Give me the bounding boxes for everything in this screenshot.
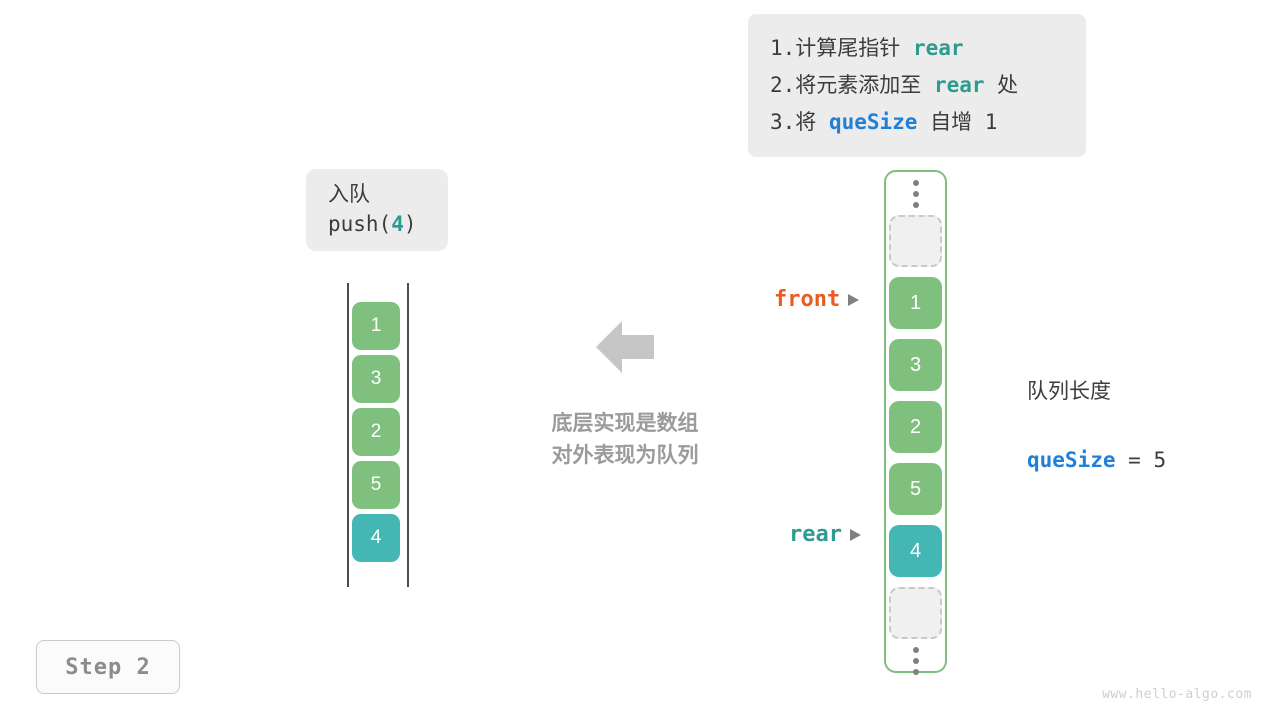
instruction-index-2: 2.	[770, 73, 795, 97]
caption-block: 底层实现是数组 对外表现为队列	[500, 408, 750, 472]
queue-cell-list: 1 3 2 5 4	[352, 302, 400, 567]
instruction-line-2: 2.将元素添加至 rear 处	[748, 67, 1086, 104]
array-cell: 2	[889, 401, 942, 453]
queue-rail-right	[407, 283, 409, 587]
arrow-right-icon	[850, 529, 861, 541]
operation-call: push(4)	[328, 209, 448, 239]
operation-call-suffix: )	[404, 212, 417, 236]
instruction-line-3: 3.将 queSize 自增 1	[748, 104, 1086, 141]
array-cell: 5	[889, 463, 942, 515]
instruction-suffix-3: 自增 1	[917, 110, 997, 134]
instruction-text-1: 计算尾指针	[795, 36, 913, 60]
array-implementation-view: 1 3 2 5 4	[884, 170, 947, 673]
watermark: www.hello-algo.com	[1102, 687, 1252, 702]
size-annotation: 队列长度 queSize = 5	[1027, 341, 1166, 495]
queue-cell: 5	[352, 461, 400, 509]
queue-cell: 3	[352, 355, 400, 403]
left-arrow-icon	[596, 320, 654, 374]
instruction-text-2: 将元素添加至	[795, 73, 934, 97]
vertical-ellipsis-icon-top	[886, 172, 945, 215]
operation-callout: 入队 push(4)	[306, 169, 448, 251]
vertical-ellipsis-icon-bottom	[886, 639, 945, 682]
arrow-right-icon	[848, 294, 859, 306]
instruction-keyword-rear-2: rear	[934, 73, 985, 97]
pointer-front-label: front	[774, 287, 840, 312]
queue-cell: 1	[352, 302, 400, 350]
pointer-rear-label: rear	[789, 522, 842, 547]
queue-abstract-view: 1 3 2 5 4	[340, 283, 416, 587]
step-badge-label: Step 2	[65, 655, 150, 680]
instruction-index-3: 3.	[770, 110, 795, 134]
operation-call-arg: 4	[391, 212, 404, 236]
array-cell-empty	[889, 587, 942, 639]
array-cell: 1	[889, 277, 942, 329]
array-cell: 4	[889, 525, 942, 577]
pointer-rear: rear	[789, 522, 861, 547]
array-cell-empty	[889, 215, 942, 267]
size-annotation-expression: queSize = 5	[1027, 443, 1166, 477]
instruction-panel: 1.计算尾指针 rear 2.将元素添加至 rear 处 3.将 queSize…	[748, 14, 1086, 157]
instruction-keyword-rear-1: rear	[913, 36, 964, 60]
instruction-keyword-quesize: queSize	[829, 110, 918, 134]
size-annotation-variable: queSize	[1027, 448, 1116, 472]
queue-cell: 4	[352, 514, 400, 562]
array-cell: 3	[889, 339, 942, 391]
instruction-index-1: 1.	[770, 36, 795, 60]
instruction-line-1: 1.计算尾指针 rear	[748, 30, 1086, 67]
operation-title: 入队	[328, 181, 448, 209]
caption-line-2: 对外表现为队列	[500, 440, 750, 472]
instruction-text-3: 将	[795, 110, 829, 134]
queue-cell: 2	[352, 408, 400, 456]
size-annotation-title: 队列长度	[1027, 377, 1166, 407]
pointer-front: front	[774, 287, 859, 312]
size-annotation-operator: =	[1116, 448, 1154, 472]
size-annotation-value: 5	[1153, 448, 1166, 472]
operation-call-prefix: push(	[328, 212, 391, 236]
array-cell-list: 1 3 2 5 4	[886, 215, 945, 639]
instruction-suffix-2: 处	[985, 73, 1019, 97]
caption-line-1: 底层实现是数组	[500, 408, 750, 440]
step-badge: Step 2	[36, 640, 180, 694]
queue-rail-left	[347, 283, 349, 587]
